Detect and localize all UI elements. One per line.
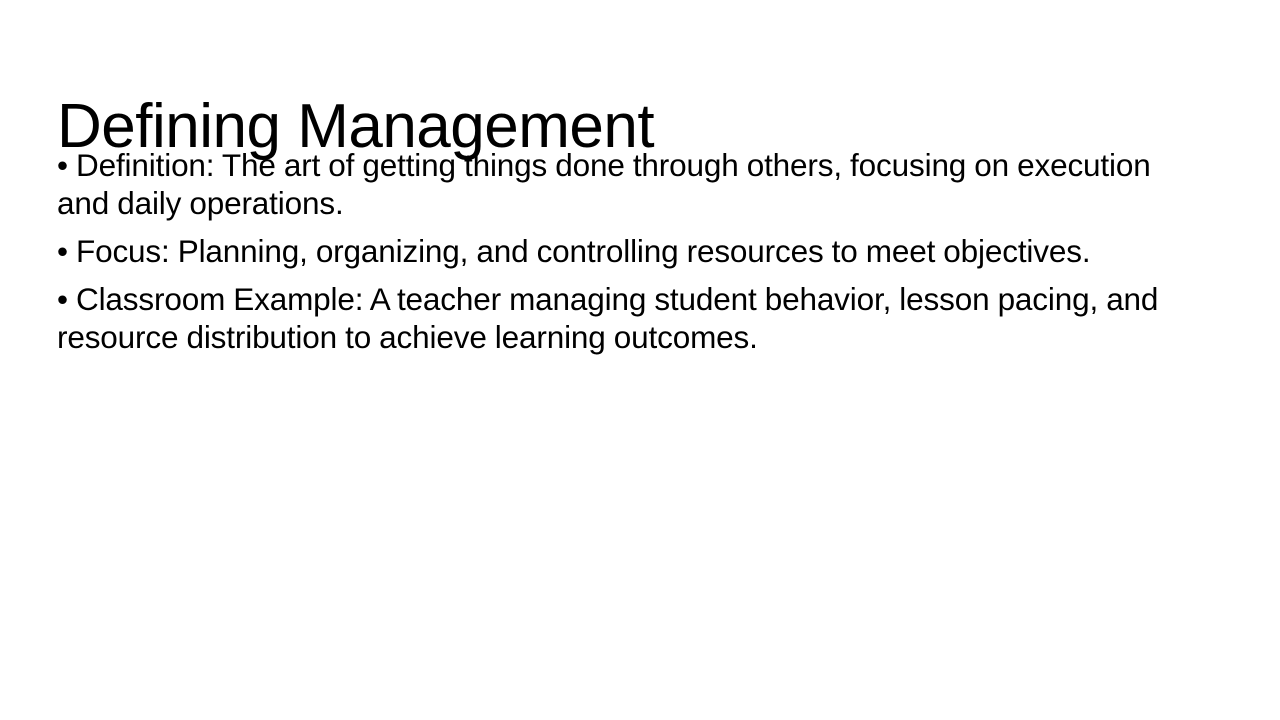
list-item: • Classroom Example: A teacher managing … — [57, 280, 1197, 356]
bullet-list: • Definition: The art of getting things … — [57, 146, 1197, 356]
list-item: • Definition: The art of getting things … — [57, 146, 1197, 222]
list-item: • Focus: Planning, organizing, and contr… — [57, 232, 1197, 270]
slide-canvas: Defining Management • Definition: The ar… — [0, 0, 1280, 720]
